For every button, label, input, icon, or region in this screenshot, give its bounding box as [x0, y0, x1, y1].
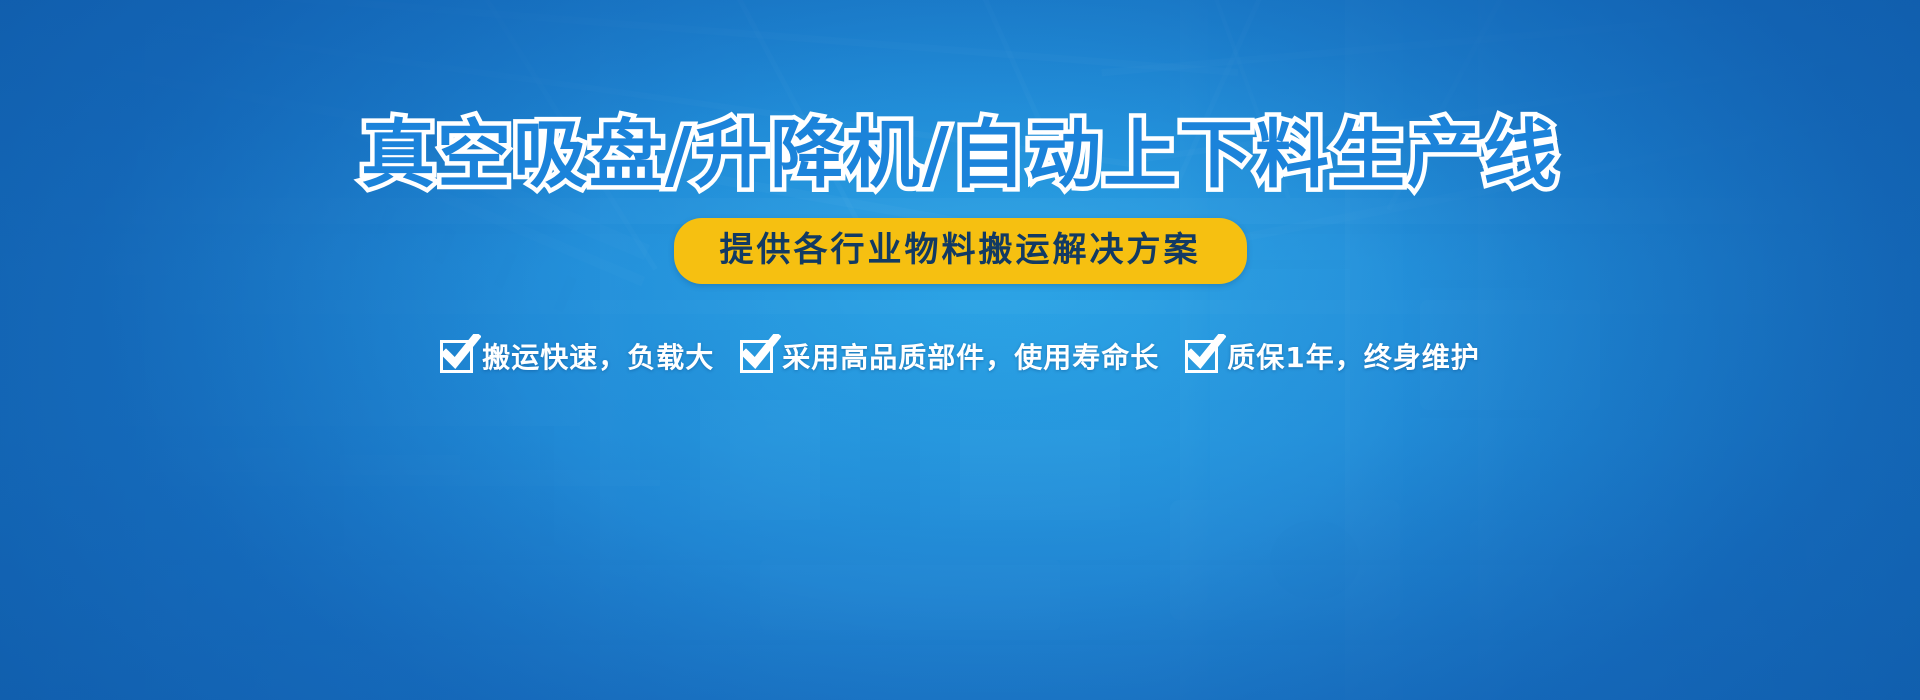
subtitle-badge: 提供各行业物料搬运解决方案: [674, 218, 1247, 284]
feature-item-3: 质保1年，终身维护: [1185, 336, 1479, 376]
feature-item-2: 采用高品质部件，使用寿命长: [740, 336, 1159, 376]
feature-list: 搬运快速，负载大 采用高品质部件，使用寿命长 质保1年，终身维护: [440, 336, 1480, 376]
feature-item-1: 搬运快速，负载大: [440, 336, 714, 376]
feature-label: 搬运快速，负载大: [482, 336, 714, 376]
checkbox-checked-icon: [740, 340, 773, 373]
subtitle-badge-wrapper: 提供各行业物料搬运解决方案: [674, 218, 1247, 284]
feature-label: 质保1年，终身维护: [1227, 336, 1479, 376]
banner-content: 真空吸盘/升降机/自动上下料生产线 提供各行业物料搬运解决方案 搬运快速，负载大: [0, 0, 1920, 700]
hero-banner: 真空吸盘/升降机/自动上下料生产线 提供各行业物料搬运解决方案 搬运快速，负载大: [0, 0, 1920, 700]
checkbox-checked-icon: [1185, 340, 1218, 373]
feature-label: 采用高品质部件，使用寿命长: [782, 336, 1159, 376]
page-title: 真空吸盘/升降机/自动上下料生产线: [361, 118, 1559, 192]
checkbox-checked-icon: [440, 340, 473, 373]
